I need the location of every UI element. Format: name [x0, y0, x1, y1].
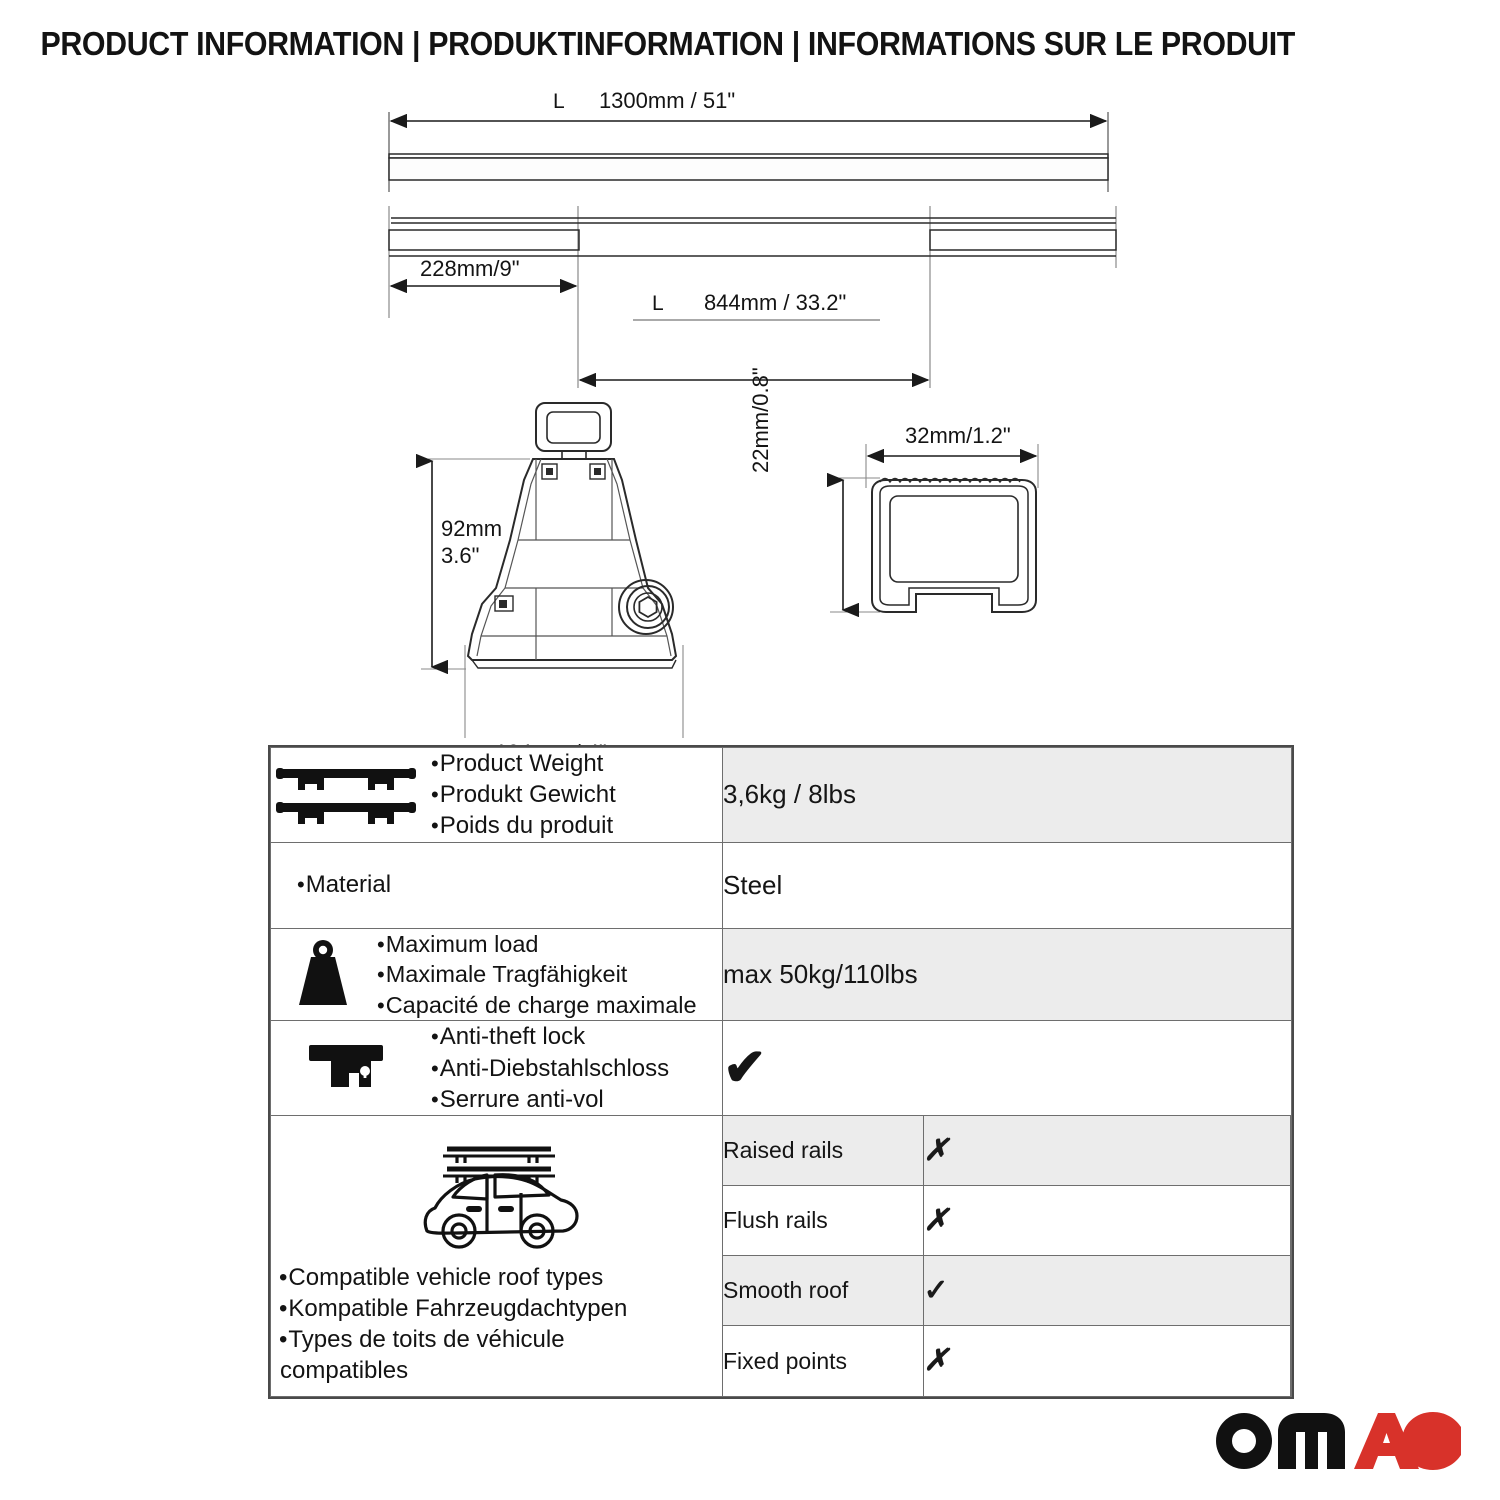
spec-value-antitheft: ✔	[723, 1021, 1292, 1116]
compatibility-options-cell: Raised rails ✗ Flush rails ✗ Smooth roof…	[723, 1115, 1292, 1396]
table-row: Compatible vehicle roof types Kompatible…	[271, 1115, 1292, 1396]
compatibility-label-cell: Compatible vehicle roof types Kompatible…	[271, 1115, 723, 1396]
end-offset-dim: 228mm/9"	[420, 256, 520, 282]
table-row: Maximum load Maximale Tragfähigkeit Capa…	[271, 928, 1292, 1021]
lock-icon	[271, 1037, 421, 1099]
spec-label-cell: Product Weight Produkt Gewicht Poids du …	[271, 748, 723, 843]
roof-type-mark: ✗	[923, 1116, 1291, 1186]
spec-value-weight: 3,6kg / 8lbs	[723, 748, 1292, 843]
omac-logo	[1214, 1410, 1464, 1472]
cross-icon: ✗	[924, 1346, 949, 1376]
spec-labels: Maximum load Maximale Tragfähigkeit Capa…	[377, 929, 697, 1021]
table-row: Product Weight Produkt Gewicht Poids du …	[271, 748, 1292, 843]
weight-icon	[271, 939, 375, 1009]
roof-type-name: Raised rails	[723, 1116, 923, 1186]
check-icon: ✔	[723, 1042, 767, 1094]
spec-labels: Material	[271, 869, 722, 900]
page-header: PRODUCT INFORMATION | PRODUKTINFORMATION…	[0, 0, 1500, 88]
spec-value-maxload: max 50kg/110lbs	[723, 928, 1292, 1021]
roof-type-mark: ✗	[923, 1326, 1291, 1396]
technical-drawing: L 1300mm / 51" 228mm/9" L 844mm / 33.2" …	[0, 88, 1500, 738]
spec-labels: Product Weight Produkt Gewicht Poids du …	[431, 748, 616, 842]
roof-type-row: Fixed points ✗	[723, 1326, 1291, 1396]
roof-type-name: Flush rails	[723, 1186, 923, 1256]
spec-label-cell: Anti-theft lock Anti-Diebstahlschloss Se…	[271, 1021, 723, 1116]
roof-type-name: Fixed points	[723, 1326, 923, 1396]
cross-icon: ✗	[924, 1136, 949, 1166]
span-dim: L 844mm / 33.2"	[652, 290, 846, 316]
roof-type-row: Flush rails ✗	[723, 1186, 1291, 1256]
table-row: Material Steel	[271, 842, 1292, 928]
compatibility-labels: Compatible vehicle roof types Kompatible…	[271, 1263, 627, 1386]
car-with-roof-rack-icon	[271, 1135, 722, 1255]
roof-type-name: Smooth roof	[723, 1256, 923, 1326]
roof-type-row: Smooth roof ✓	[723, 1256, 1291, 1326]
cross-icon: ✗	[924, 1206, 949, 1236]
spec-value-material: Steel	[723, 842, 1292, 928]
spec-label-cell: Material	[271, 842, 723, 928]
roof-type-mark: ✓	[923, 1256, 1291, 1326]
roof-type-mark: ✗	[923, 1186, 1291, 1256]
specification-table: Product Weight Produkt Gewicht Poids du …	[268, 745, 1294, 1399]
table-row: Anti-theft lock Anti-Diebstahlschloss Se…	[271, 1021, 1292, 1116]
roof-type-table: Raised rails ✗ Flush rails ✗ Smooth roof…	[723, 1116, 1291, 1396]
roof-type-row: Raised rails ✗	[723, 1116, 1291, 1186]
foot-height-dim: 92mm 3.6"	[441, 516, 502, 570]
spec-labels: Anti-theft lock Anti-Diebstahlschloss Se…	[431, 1021, 669, 1115]
bar-length-dim: L 1300mm / 51"	[553, 88, 735, 114]
profile-width-dim: 32mm/1.2"	[905, 423, 1011, 449]
page-title: PRODUCT INFORMATION | PRODUKTINFORMATION…	[0, 25, 1295, 63]
profile-height-dim: 22mm/0.8"	[748, 367, 774, 473]
check-icon: ✓	[924, 1276, 949, 1306]
spec-label-cell: Maximum load Maximale Tragfähigkeit Capa…	[271, 928, 723, 1021]
crossbars-icon	[271, 763, 421, 827]
omac-logo-svg	[1214, 1410, 1464, 1472]
